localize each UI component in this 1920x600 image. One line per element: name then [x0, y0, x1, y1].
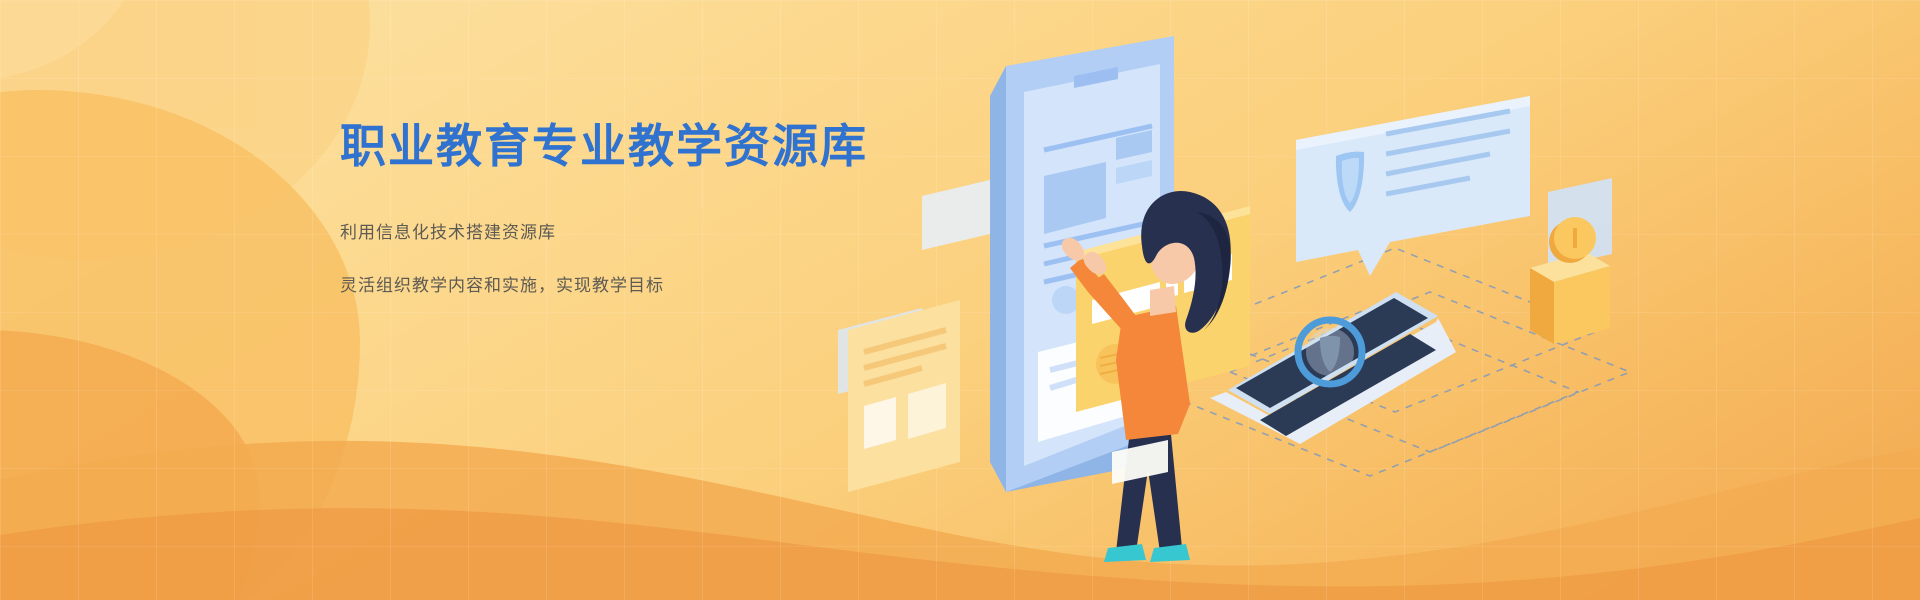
background-sun-glow	[0, 0, 150, 80]
laptop-shield-icon	[1298, 320, 1362, 384]
chat-bubble-with-shield	[1296, 96, 1530, 276]
hero-banner: 职业教育专业教学资源库 利用信息化技术搭建资源库 灵活组织教学内容和实施，实现教…	[0, 0, 1920, 600]
document-card-left	[848, 300, 960, 492]
hero-illustration	[830, 0, 1920, 600]
background-blob-top-left	[0, 0, 370, 260]
